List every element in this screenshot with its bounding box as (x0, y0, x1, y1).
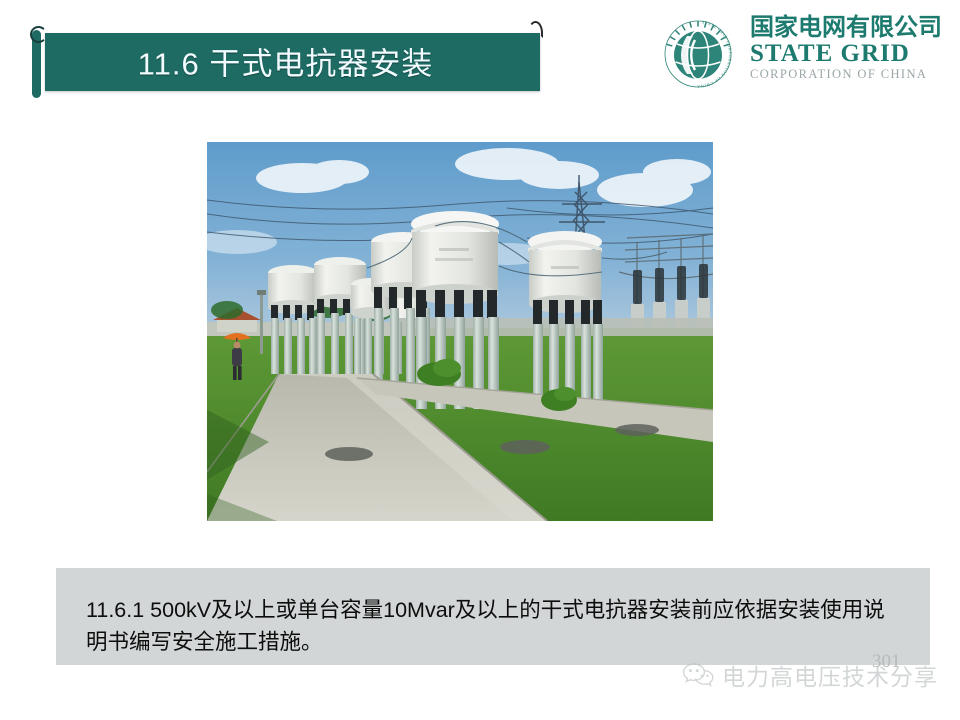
logo-company-name-en: STATE GRID (750, 41, 946, 67)
watermark-label: 电力高电压技术分享 (722, 658, 938, 692)
body-paragraph: 11.6.1 500kV及以上或单台容量10Mvar及以上的干式电抗器安装前应依… (86, 594, 896, 658)
logo-company-name-cn: 国家电网有限公司 (750, 14, 946, 41)
state-grid-logo: STATE GRID CORPORATION OF CHINA 国家电网有限公司… (662, 14, 947, 96)
slide-title-banner: 11.6 干式电抗器安装 (45, 33, 540, 91)
title-decoration-hook-icon (528, 21, 543, 38)
logo-company-subtitle: CORPORATION OF CHINA (750, 67, 946, 81)
state-grid-emblem-icon: STATE GRID CORPORATION OF CHINA (662, 18, 734, 90)
state-grid-wordmark: 国家电网有限公司 STATE GRID CORPORATION OF CHINA (750, 14, 946, 81)
substation-photo-graphic (207, 142, 713, 521)
reactor-installation-photo (207, 142, 713, 521)
wechat-icon (682, 661, 714, 689)
page-title: 11.6 干式电抗器安装 (45, 39, 526, 84)
body-text-box: 11.6.1 500kV及以上或单台容量10Mvar及以上的干式电抗器安装前应依… (56, 568, 930, 665)
wechat-watermark: 电力高电压技术分享 (682, 658, 938, 692)
